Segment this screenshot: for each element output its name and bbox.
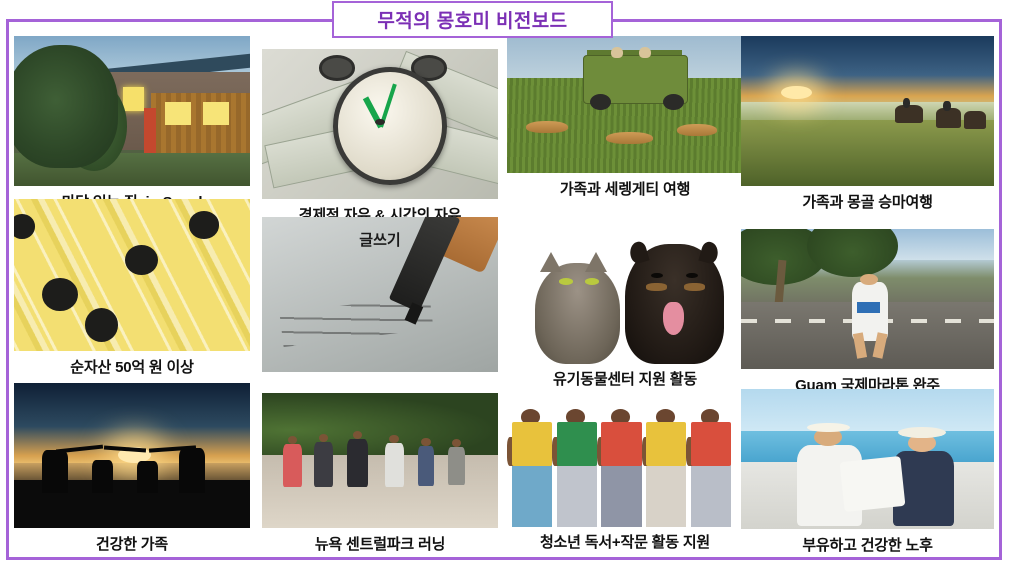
vision-image-mongolia-horse-trip	[741, 36, 994, 186]
vision-card-mongolia-horse-trip[interactable]: 가족과 몽골 승마여행	[741, 36, 994, 218]
vision-card-animal-shelter[interactable]: 유기동물센터 지원 활동	[507, 234, 743, 394]
vision-image-serengeti-trip	[507, 36, 743, 173]
vision-card-house-with-yard[interactable]: 마당 있는 집, in Seoul	[14, 36, 250, 218]
vision-caption-healthy-family: 건강한 가족	[14, 533, 250, 554]
vision-card-guam-marathon[interactable]: Guam 국제마라톤 완주	[741, 229, 994, 399]
vision-image-central-park-running	[262, 393, 498, 528]
vision-card-financial-freedom[interactable]: 경제적 자유 & 시간의 자유	[262, 49, 498, 231]
vision-image-animal-shelter	[507, 234, 743, 364]
vision-image-writing: 글쓰기	[262, 217, 498, 372]
vision-card-central-park-running[interactable]: 뉴욕 센트럴파크 러닝	[262, 393, 498, 558]
vision-card-serengeti-trip[interactable]: 가족과 세렝게티 여행	[507, 36, 743, 218]
vision-card-wealthy-retirement[interactable]: 부유하고 건강한 노후	[741, 389, 994, 559]
vision-image-guam-marathon	[741, 229, 994, 369]
vision-caption-central-park-running: 뉴욕 센트럴파크 러닝	[262, 533, 498, 554]
vision-caption-writing: 글쓰기	[262, 229, 498, 250]
vision-image-youth-reading	[507, 399, 743, 527]
vision-caption-net-worth: 순자산 50억 원 이상	[14, 356, 250, 377]
vision-image-net-worth	[14, 199, 250, 351]
vision-caption-serengeti-trip: 가족과 세렝게티 여행	[507, 178, 743, 199]
board-title-plate: 무적의 몽호미 비전보드	[332, 1, 613, 38]
vision-card-youth-reading[interactable]: 청소년 독서+작문 활동 지원	[507, 399, 743, 559]
vision-caption-wealthy-retirement: 부유하고 건강한 노후	[741, 534, 994, 555]
vision-caption-animal-shelter: 유기동물센터 지원 활동	[507, 368, 743, 389]
page-title: 무적의 몽호미 비전보드	[377, 6, 567, 33]
vision-caption-mongolia-horse-trip: 가족과 몽골 승마여행	[741, 191, 994, 212]
vision-image-house-with-yard	[14, 36, 250, 186]
vision-caption-youth-reading: 청소년 독서+작문 활동 지원	[507, 531, 743, 552]
vision-card-net-worth[interactable]: 순자산 50억 원 이상	[14, 199, 250, 384]
vision-card-writing[interactable]: 글쓰기	[262, 217, 498, 392]
vision-grid: 마당 있는 집, in Seoul 경제적 자유 & 시간의 자유	[6, 19, 1002, 560]
vision-image-wealthy-retirement	[741, 389, 994, 529]
vision-card-healthy-family[interactable]: 건강한 가족	[14, 383, 250, 558]
vision-image-financial-freedom	[262, 49, 498, 199]
vision-board: 무적의 몽호미 비전보드 마당 있는 집, in Seoul	[0, 0, 1011, 566]
vision-image-healthy-family	[14, 383, 250, 528]
